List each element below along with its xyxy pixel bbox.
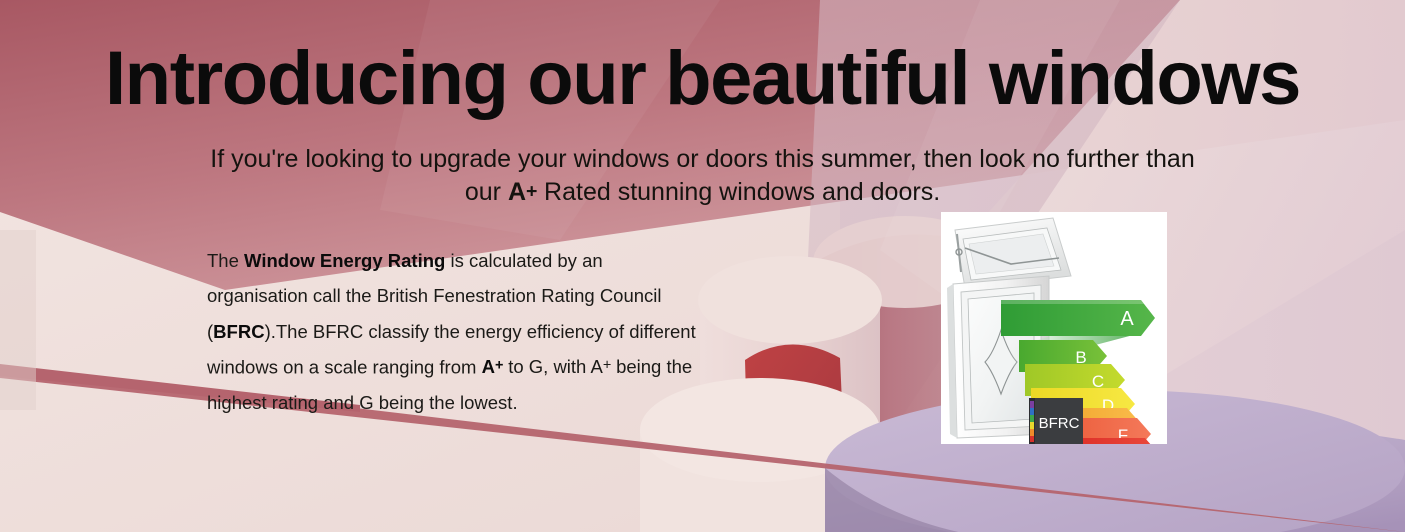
svg-text:A: A — [1120, 308, 1134, 330]
body-bold-window-energy-rating: Window Energy Rating — [244, 250, 445, 271]
page-title: Introducing our beautiful windows — [0, 40, 1405, 118]
subtitle-emphasis-rating: A+ — [508, 178, 537, 206]
window-energy-rating-graphic: A B C D — [941, 212, 1167, 444]
window-top-vent — [955, 218, 1071, 288]
hero-subtitle: If you're looking to upgrade your window… — [208, 143, 1198, 209]
subtitle-text-after: Rated stunning windows and doors. — [537, 178, 940, 206]
bfrc-badge: BFRC — [1029, 398, 1083, 444]
body-text-1: The — [207, 250, 244, 271]
body-bold-bfrc: BFRC — [213, 321, 264, 342]
rating-arrow-a: A — [1001, 300, 1155, 336]
subtitle-emphasis-value: A+ — [508, 178, 537, 206]
bfrc-badge-label: BFRC — [1039, 415, 1080, 432]
product-energy-rating-image: A B C D — [941, 212, 1167, 444]
body-paragraph: The Window Energy Rating is calculated b… — [207, 243, 707, 420]
body-bold-a-plus: A+ — [482, 356, 504, 377]
hero-banner: Introducing our beautiful windows If you… — [0, 0, 1405, 532]
